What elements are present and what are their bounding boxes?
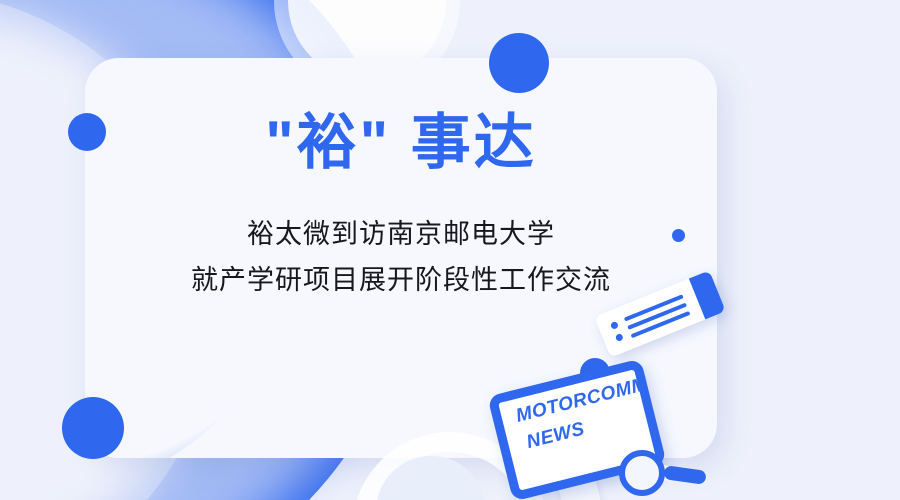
subtitle-line-1: 裕太微到访南京邮电大学 — [85, 211, 717, 257]
blue-dot-bottom-left-icon — [62, 397, 124, 459]
news-banner: "裕" 事达 裕太微到访南京邮电大学 就产学研项目展开阶段性工作交流 MOTOR… — [0, 0, 900, 500]
subtitle-line-2: 就产学研项目展开阶段性工作交流 — [85, 257, 717, 303]
megaphone-lens — [619, 450, 665, 496]
banner-subtitle: 裕太微到访南京邮电大学 就产学研项目展开阶段性工作交流 — [85, 177, 717, 304]
banner-title: "裕" 事达 — [85, 58, 717, 177]
megaphone-icon: MOTORCOMM NEWS — [498, 372, 698, 500]
headline-group: "裕" 事达 裕太微到访南京邮电大学 就产学研项目展开阶段性工作交流 — [85, 58, 717, 304]
